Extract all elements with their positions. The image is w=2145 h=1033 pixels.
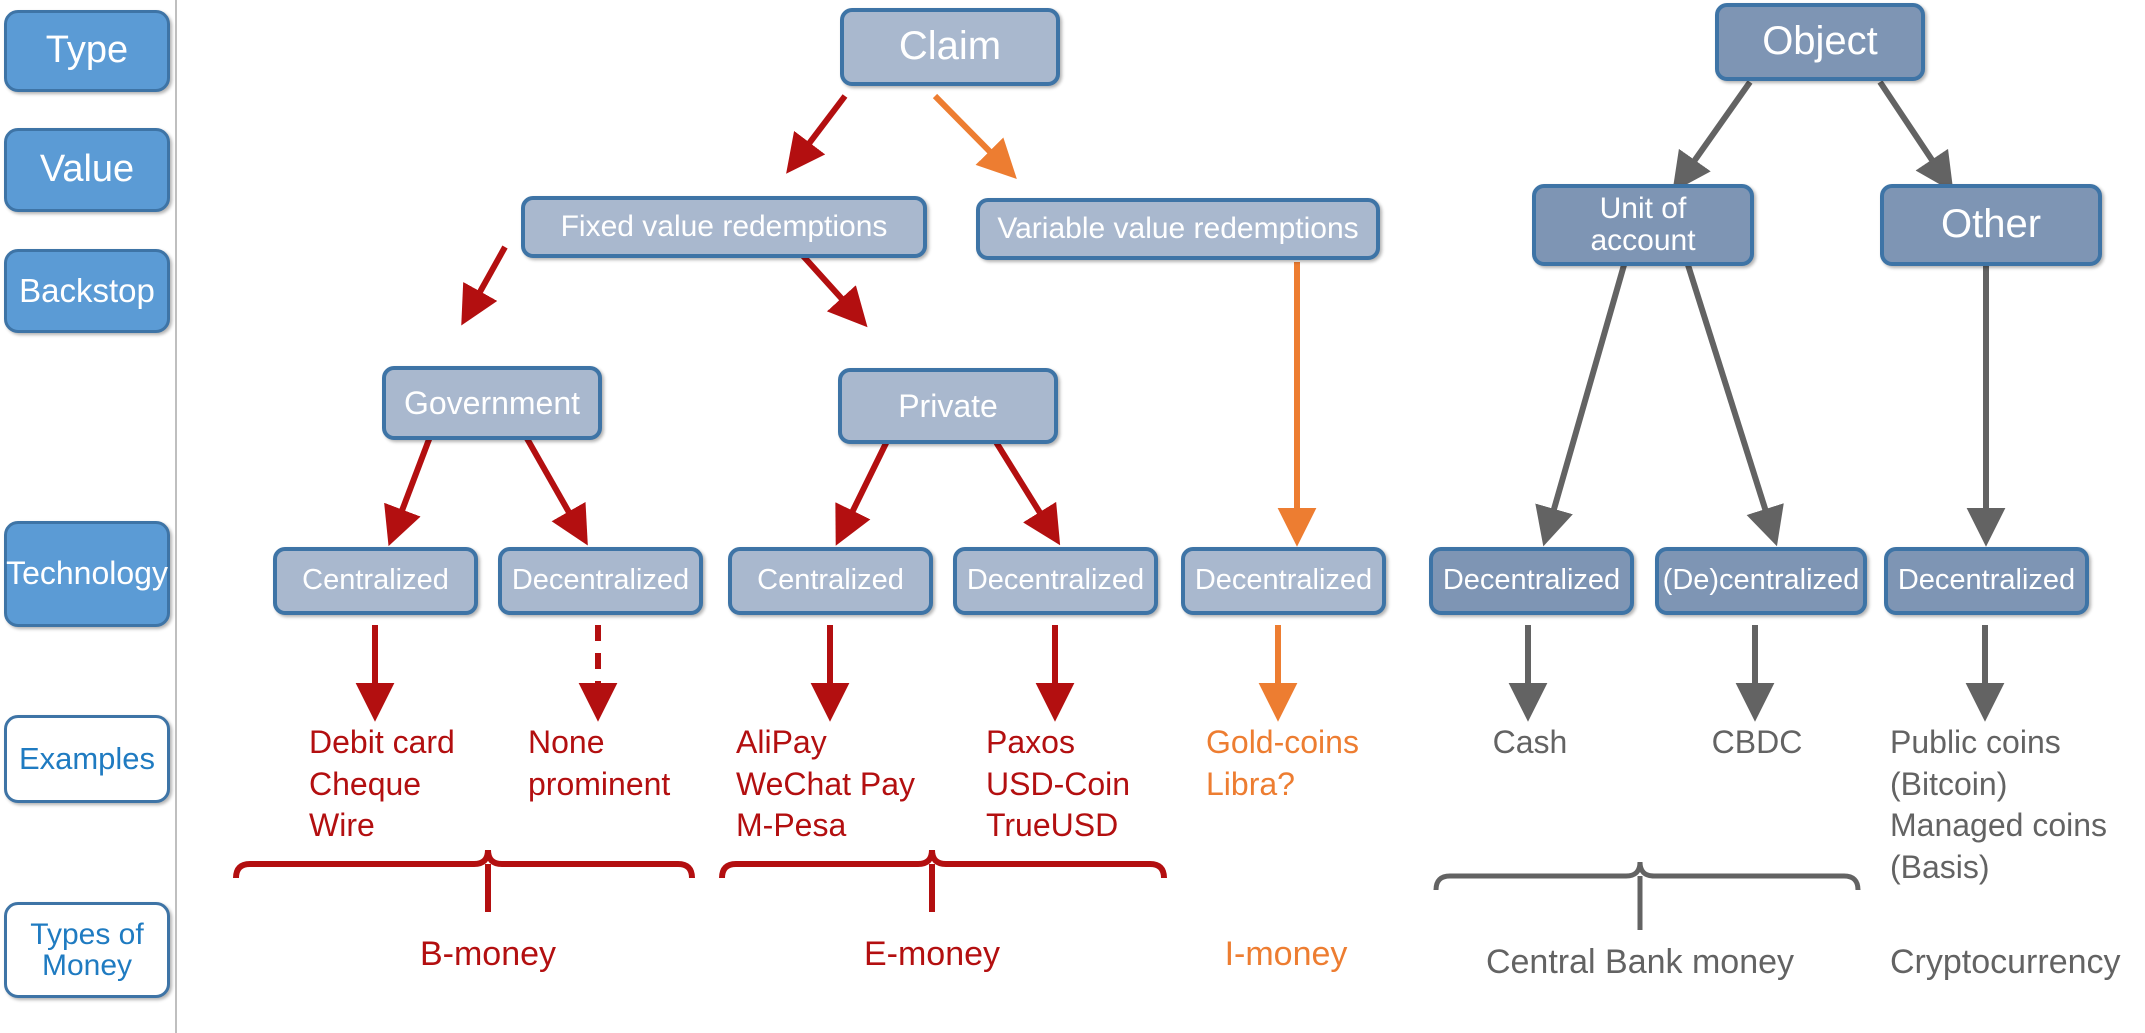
node-gov-centralized-label: Centralized xyxy=(302,565,449,596)
row-label-examples-text: Examples xyxy=(19,743,155,776)
node-private-label: Private xyxy=(898,389,998,424)
edge-unit-to-decentralized2 xyxy=(1688,265,1774,537)
examples-alipay: AliPay WeChat Pay M-Pesa xyxy=(736,722,915,847)
edge-unit-to-decentralized xyxy=(1546,265,1624,537)
edge-object-to-other xyxy=(1880,82,1948,184)
connector-layer xyxy=(0,0,2145,1033)
node-var-decentralized[interactable]: Decentralized xyxy=(1181,547,1386,615)
diagram-canvas: Type Value Backstop Technology Examples … xyxy=(0,0,2145,1033)
edge-claim-to-variable xyxy=(935,96,1010,172)
row-label-value[interactable]: Value xyxy=(4,128,170,212)
row-label-backstop-text: Backstop xyxy=(19,274,155,309)
node-unit-of-account[interactable]: Unit of account xyxy=(1532,184,1754,266)
node-priv-centralized-label: Centralized xyxy=(757,565,904,596)
node-unit-decentralized[interactable]: Decentralized xyxy=(1429,547,1634,615)
brace-e-money xyxy=(722,850,1164,878)
examples-coins: Public coins (Bitcoin) Managed coins (Ba… xyxy=(1890,722,2107,888)
node-claim-label: Claim xyxy=(899,25,1001,68)
node-private[interactable]: Private xyxy=(838,368,1058,444)
node-fixed-value-redemptions-label: Fixed value redemptions xyxy=(561,211,888,243)
row-label-examples[interactable]: Examples xyxy=(4,715,170,803)
node-government[interactable]: Government xyxy=(382,366,602,440)
row-label-types-of-money[interactable]: Types of Money xyxy=(4,902,170,998)
node-other[interactable]: Other xyxy=(1880,184,2102,266)
node-fixed-value-redemptions[interactable]: Fixed value redemptions xyxy=(521,196,927,258)
node-gov-decentralized-label: Decentralized xyxy=(512,565,689,596)
edge-claim-to-fixed xyxy=(792,96,845,166)
examples-debit: Debit card Cheque Wire xyxy=(309,722,455,847)
row-label-backstop[interactable]: Backstop xyxy=(4,249,170,333)
examples-paxos: Paxos USD-Coin TrueUSD xyxy=(986,722,1130,847)
node-claim[interactable]: Claim xyxy=(840,8,1060,86)
node-unit-of-account-label: Unit of account xyxy=(1590,193,1695,258)
node-variable-value-redemptions[interactable]: Variable value redemptions xyxy=(976,198,1380,260)
examples-none: None prominent xyxy=(528,722,670,805)
brace-b-money xyxy=(236,850,692,878)
node-priv-centralized[interactable]: Centralized xyxy=(728,547,933,615)
node-variable-value-redemptions-label: Variable value redemptions xyxy=(997,213,1358,245)
node-unit-decentralized-label: Decentralized xyxy=(1443,565,1620,596)
node-other-decentralized-label: Decentralized xyxy=(1898,565,2075,596)
money-type-i-money: I-money xyxy=(1186,932,1386,976)
money-type-cryptocurrency: Cryptocurrency xyxy=(1890,940,2121,984)
edge-object-to-unit xyxy=(1678,82,1750,184)
examples-cash: Cash xyxy=(1450,722,1610,764)
row-label-types-of-money-text: Types of Money xyxy=(30,919,143,982)
row-label-value-text: Value xyxy=(40,150,134,190)
node-gov-decentralized[interactable]: Decentralized xyxy=(498,547,703,615)
node-other-label: Other xyxy=(1941,203,2041,246)
money-type-e-money: E-money xyxy=(832,932,1032,976)
edge-fixed-to-government xyxy=(466,247,505,317)
node-priv-decentralized-label: Decentralized xyxy=(967,565,1144,596)
row-label-type-text: Type xyxy=(46,31,128,71)
examples-cbdc: CBDC xyxy=(1672,722,1842,764)
money-type-central-bank-money: Central Bank money xyxy=(1470,940,1810,984)
row-label-type[interactable]: Type xyxy=(4,10,170,92)
node-var-decentralized-label: Decentralized xyxy=(1195,565,1372,596)
node-other-decentralized[interactable]: Decentralized xyxy=(1884,547,2089,615)
row-label-technology[interactable]: Technology xyxy=(4,521,170,627)
node-unit-decentralized2[interactable]: (De)centralized xyxy=(1655,547,1867,615)
row-label-technology-text: Technology xyxy=(6,557,168,591)
examples-gold: Gold-coins Libra? xyxy=(1206,722,1359,805)
node-object-label: Object xyxy=(1762,20,1878,63)
node-gov-centralized[interactable]: Centralized xyxy=(273,547,478,615)
node-unit-decentralized2-label: (De)centralized xyxy=(1663,565,1860,596)
node-priv-decentralized[interactable]: Decentralized xyxy=(953,547,1158,615)
node-object[interactable]: Object xyxy=(1715,3,1925,81)
money-type-b-money: B-money xyxy=(388,932,588,976)
brace-central-bank-money xyxy=(1436,862,1858,890)
node-government-label: Government xyxy=(404,386,580,421)
